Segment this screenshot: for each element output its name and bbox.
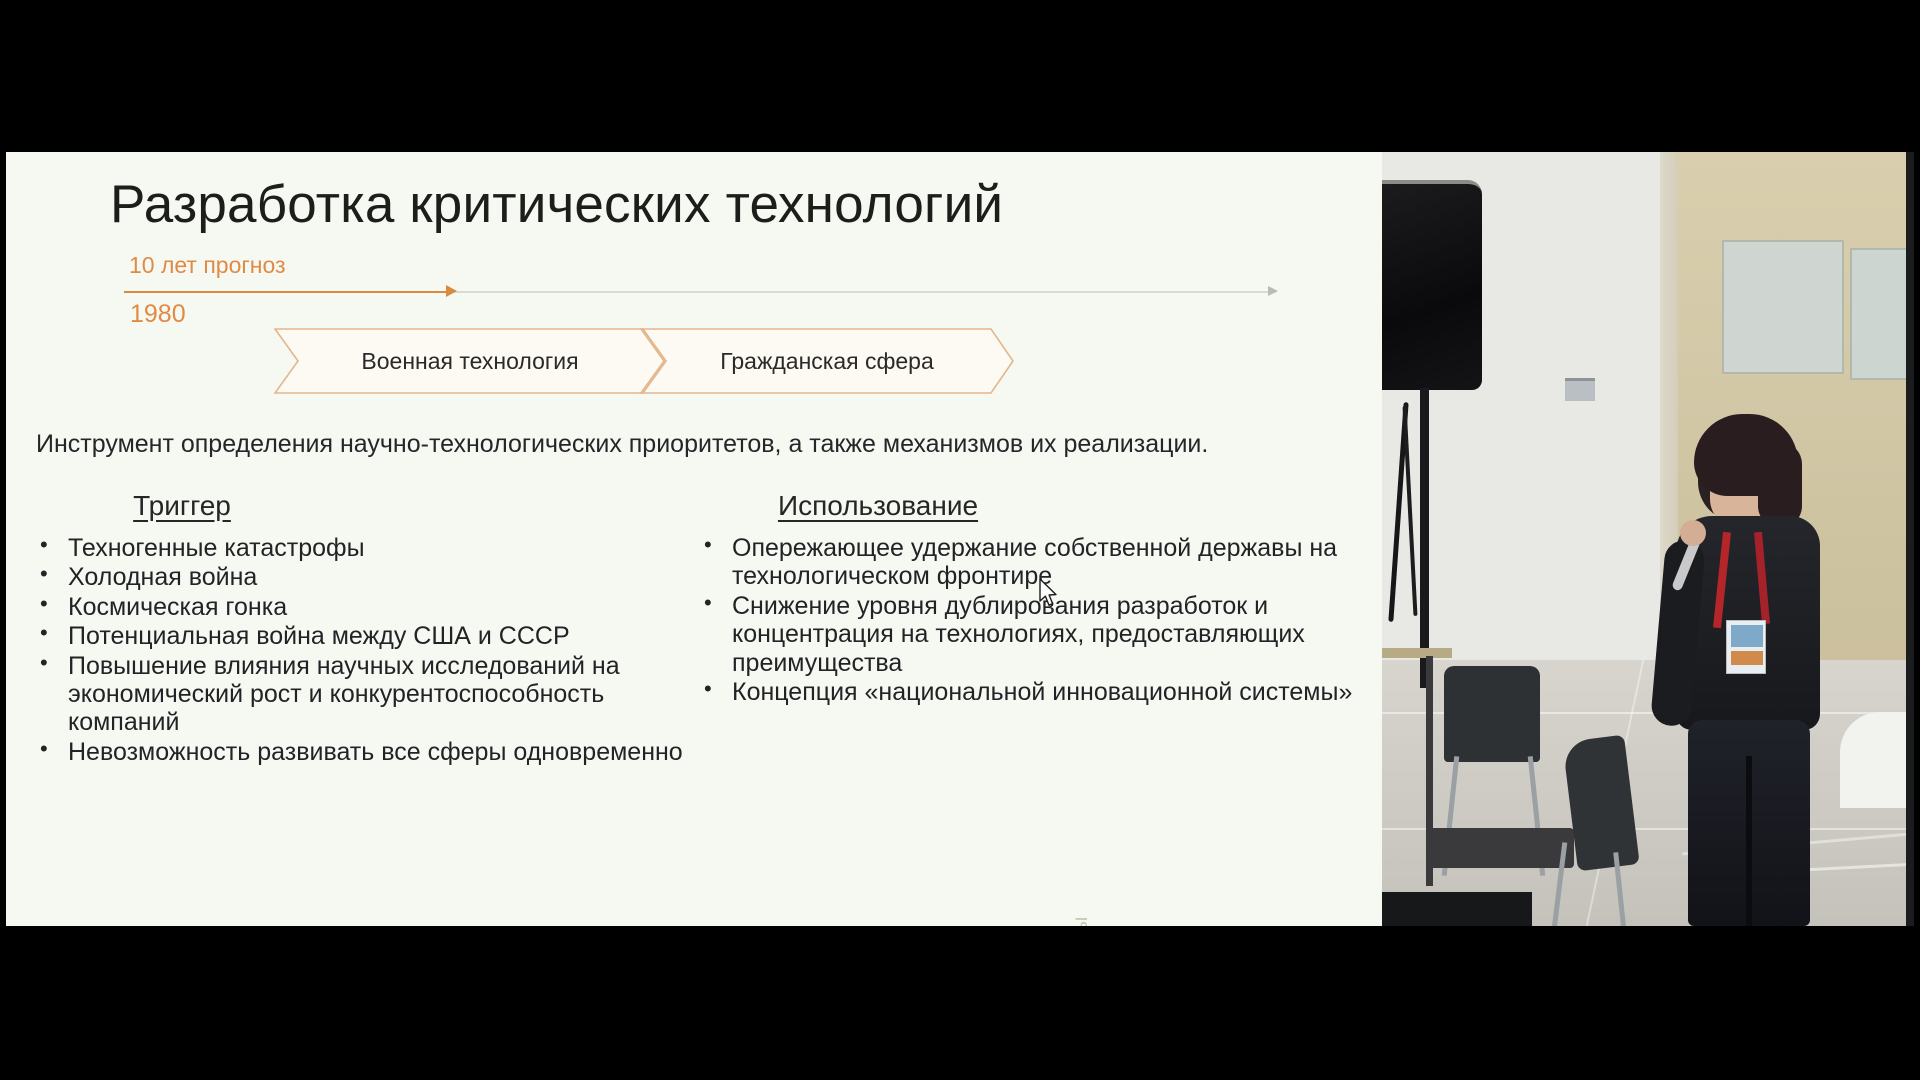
badge-text-strip bbox=[1731, 651, 1763, 665]
room-glass-panel-2 bbox=[1850, 248, 1914, 380]
presentation-slide[interactable]: Разработка критических технологий 10 лет… bbox=[6, 152, 1382, 926]
column-usage: Использование Опережающее удержание собс… bbox=[696, 490, 1356, 707]
stage-chevron-group: Военная технология Гражданская сфера bbox=[274, 328, 1014, 394]
stage-chevron-civil-label: Гражданская сфера bbox=[720, 348, 934, 375]
wall-socket-plate bbox=[1565, 378, 1595, 401]
pa-speaker bbox=[1382, 180, 1482, 390]
list-item: Невозможность развивать все сферы одновр… bbox=[32, 738, 692, 766]
timeline-forecast-arrow-icon bbox=[446, 285, 457, 297]
chair-seat bbox=[1426, 828, 1574, 868]
list-item: Повышение влияния научных исследований н… bbox=[32, 652, 692, 737]
intro-paragraph: Инструмент определения научно-технологич… bbox=[36, 430, 1208, 459]
list-item: Концепция «национальной инновационной си… bbox=[696, 678, 1356, 706]
speaker-stand bbox=[1420, 388, 1429, 688]
timeline-forecast-segment bbox=[124, 291, 449, 293]
list-item: Техногенные катастрофы bbox=[32, 534, 692, 562]
presenter-hand bbox=[1680, 520, 1706, 546]
chair-backrest bbox=[1444, 666, 1540, 762]
list-item: Опережающее удержание собственной держав… bbox=[696, 534, 1356, 591]
side-table bbox=[1382, 648, 1452, 658]
column-usage-list: Опережающее удержание собственной держав… bbox=[696, 534, 1356, 706]
stage-chevron-civil: Гражданская сфера bbox=[640, 328, 1014, 394]
column-trigger-list: Техногенные катастрофы Холодная война Ко… bbox=[32, 534, 692, 766]
stage-chevron-military-label: Военная технология bbox=[361, 348, 578, 375]
presenter-video-feed[interactable] bbox=[1382, 152, 1914, 926]
timeline-year-label: 1980 bbox=[130, 300, 186, 329]
conference-badge bbox=[1726, 620, 1766, 674]
column-usage-heading: Использование bbox=[696, 490, 1356, 522]
presenter-figure bbox=[1654, 420, 1830, 926]
column-trigger: Триггер Техногенные катастрофы Холодная … bbox=[32, 490, 692, 767]
mouse-cursor-icon bbox=[1038, 578, 1060, 608]
methods-vertical-label: Методы bbox=[1069, 916, 1093, 926]
list-item: Холодная война bbox=[32, 563, 692, 591]
white-board bbox=[1840, 712, 1914, 808]
room-glass-panel-1 bbox=[1722, 240, 1844, 374]
stage-chevron-military: Военная технология bbox=[274, 328, 666, 394]
list-item: Снижение уровня дублирования разработок … bbox=[696, 592, 1356, 677]
list-item: Космическая гонка bbox=[32, 593, 692, 621]
screen-root: Разработка критических технологий 10 лет… bbox=[0, 0, 1920, 1080]
slide-title: Разработка критических технологий bbox=[110, 174, 1003, 235]
presenter-legs-gap bbox=[1746, 756, 1752, 926]
column-trigger-heading: Триггер bbox=[32, 490, 692, 522]
timeline-end-arrow-icon bbox=[1268, 286, 1278, 296]
list-item: Потенциальная война между США и СССР bbox=[32, 622, 692, 650]
video-right-edge bbox=[1906, 152, 1914, 926]
timeline-forecast-label: 10 лет прогноз bbox=[129, 252, 286, 279]
badge-photo bbox=[1731, 625, 1763, 647]
foreground-shadow bbox=[1382, 892, 1532, 926]
